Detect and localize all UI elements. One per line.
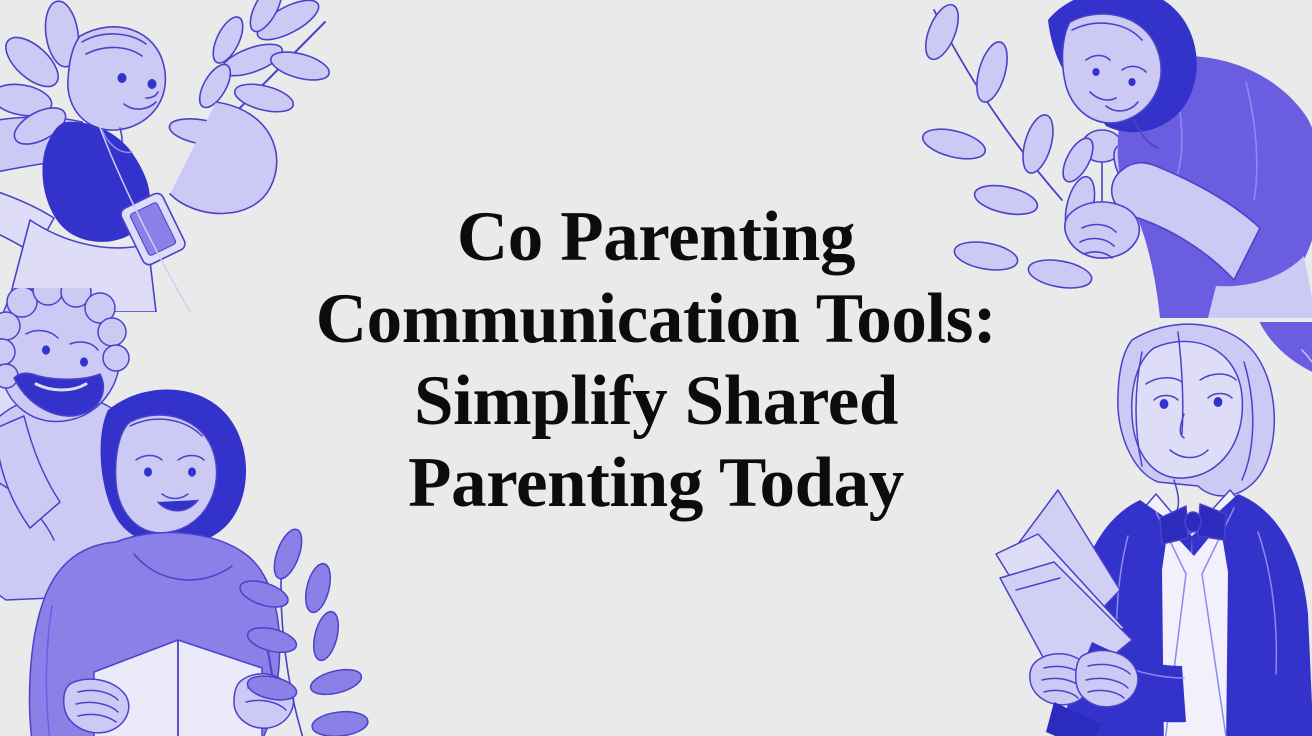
hero-banner: Co Parenting Communication Tools: Simpli… <box>0 0 1312 736</box>
woman-tending-plant-illustration <box>920 0 1312 318</box>
man-and-woman-reading-illustration <box>0 288 376 736</box>
person-in-suit-with-documents-illustration <box>942 322 1312 736</box>
woman-with-phone-illustration <box>0 0 330 312</box>
